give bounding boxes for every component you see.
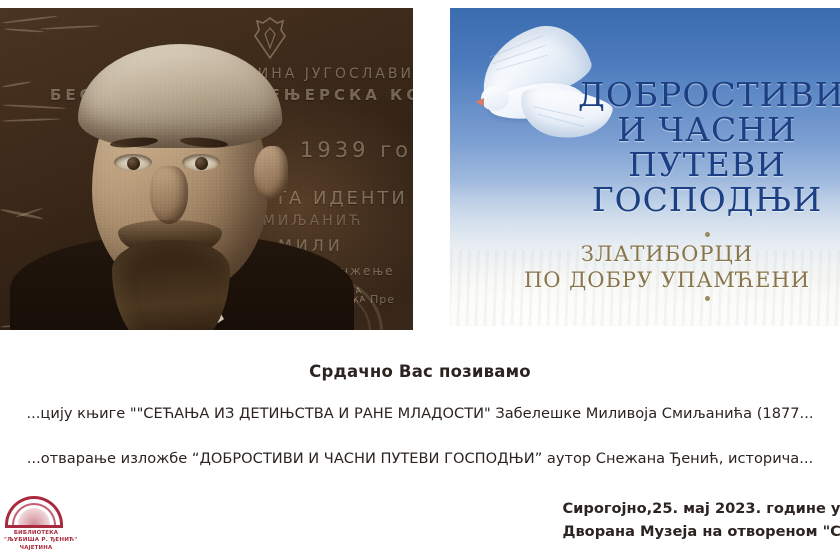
venue-block: Сирогојно,25. мај 2023. године у ... Дво… xyxy=(562,498,840,543)
book-title-line: ДОБРОСТИВИ xyxy=(578,78,836,113)
portrait-figure xyxy=(58,34,308,330)
book-subtitle: ЗЛАТИБОРЦИ ПО ДОБРУ УПАМЋЕНИ xyxy=(502,242,832,293)
ear xyxy=(254,146,288,200)
book-subtitle-line: ПО ДОБРУ УПАМЋЕНИ xyxy=(502,268,832,294)
invitation-headline: Срдачно Вас позивамо xyxy=(0,362,840,381)
venue-date-line: Сирогојно,25. мај 2023. године у ... xyxy=(562,498,840,521)
ornament-dot-icon xyxy=(705,296,710,301)
pupil xyxy=(127,157,140,170)
exhibition-line: ...отварање изложбе “ДОБРОСТИВИ И ЧАСНИ … xyxy=(0,450,840,467)
book-title-line: ПУТЕВИ xyxy=(578,148,836,183)
book-subtitle-line: ЗЛАТИБОРЦИ xyxy=(502,242,832,268)
beard xyxy=(112,240,230,330)
dove-beak xyxy=(475,98,484,106)
nose xyxy=(150,166,188,224)
invitation-page: КРАЉЕВИНА ЈУГОСЛАВИЈА БЕОГРАДСКА ИНЖЕЊЕР… xyxy=(0,0,840,560)
dove-head xyxy=(481,86,509,111)
logo-text-name: "ЉУБИША Р. ЂЕНИЋ" xyxy=(4,537,68,543)
logo-text-city: ЧАЈЕТИНА xyxy=(4,545,68,551)
logo-text-library: БИБЛИОТЕКА xyxy=(4,530,68,536)
book-title-line: ГОСПОДЊИ xyxy=(578,183,836,218)
venue-place-line: Дворана Музеја на отвореном "Ст... xyxy=(562,521,840,544)
book-title: ДОБРОСТИВИ И ЧАСНИ ПУТЕВИ ГОСПОДЊИ xyxy=(578,78,836,218)
logo-base-line xyxy=(5,525,63,528)
portrait-photo: КРАЉЕВИНА ЈУГОСЛАВИЈА БЕОГРАДСКА ИНЖЕЊЕР… xyxy=(0,8,413,330)
library-logo: БИБЛИОТЕКА "ЉУБИША Р. ЂЕНИЋ" ЧАЈЕТИНА xyxy=(4,496,68,554)
eye-right xyxy=(182,154,220,171)
book-cover-image: ДОБРОСТИВИ И ЧАСНИ ПУТЕВИ ГОСПОДЊИ ЗЛАТИ… xyxy=(450,8,840,326)
ornament-dot-icon xyxy=(705,232,710,237)
book-title-line: И ЧАСНИ xyxy=(578,113,836,148)
hair xyxy=(78,44,282,148)
book-promotion-line: ...цију књиге ""СЕЋАЊА ИЗ ДЕТИЊСТВА И РА… xyxy=(0,405,840,422)
idcard-year: 1939 го xyxy=(300,138,412,162)
eye-left xyxy=(114,154,152,171)
pupil xyxy=(195,157,208,170)
